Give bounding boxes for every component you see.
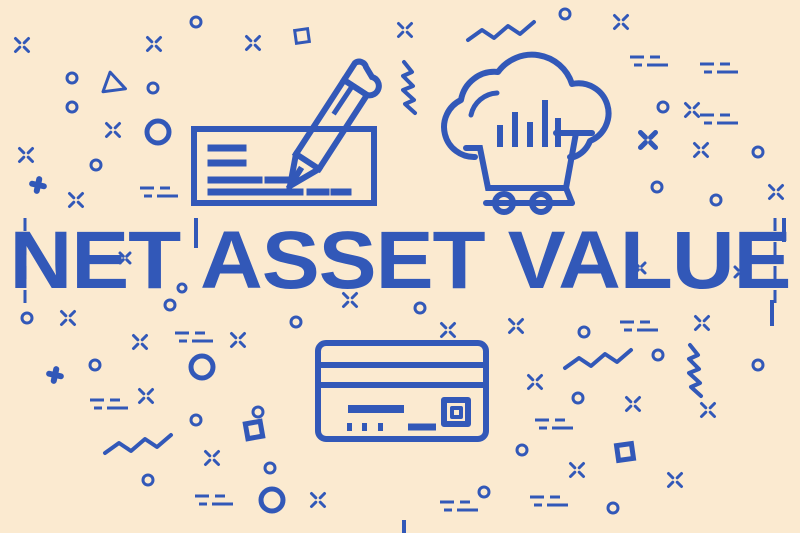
credit-card-icon: [318, 343, 486, 439]
pen-icon: [290, 62, 379, 186]
illustration-icons-layer: [0, 0, 800, 533]
bar-chart-bars: [500, 100, 558, 147]
poster-canvas: NET ASSET VALUE: [0, 0, 800, 533]
cloud-shopping-cart-chart-icon: [444, 55, 608, 212]
cheque-with-pen-icon: [194, 62, 379, 203]
